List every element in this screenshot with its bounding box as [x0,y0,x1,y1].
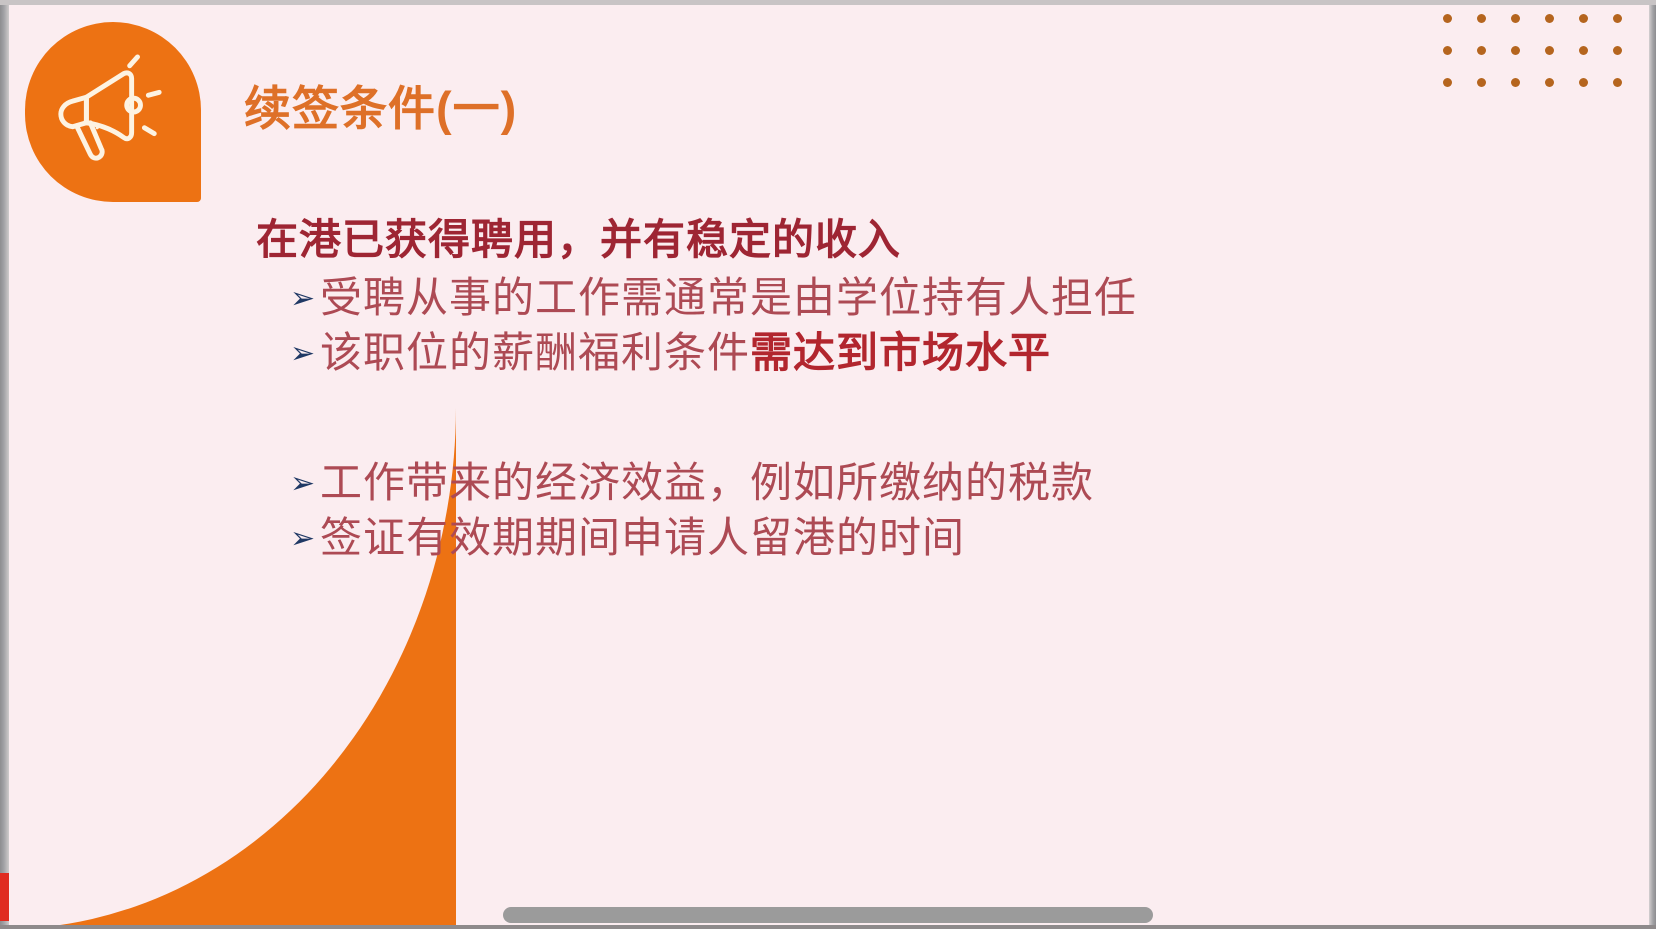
dot [1477,14,1486,23]
list-item: ➢ 工作带来的经济效益，例如所缴纳的税款 [290,456,1416,511]
horizontal-scrollbar-thumb[interactable] [503,907,1153,923]
dot-grid-decoration [1443,14,1647,110]
arrow-bullet-icon: ➢ [290,339,320,369]
dot [1545,14,1554,23]
slide-body: 在港已获得聘用，并有稳定的收入 ➢ 受聘从事的工作需通常是由学位持有人担任 ➢ … [256,214,1416,566]
megaphone-icon [51,52,169,170]
list-item: ➢ 签证有效期期间申请人留港的时间 [290,511,1416,566]
dot [1579,78,1588,87]
list-item-text: 该职位的薪酬福利条件需达到市场水平 [320,326,1051,381]
dot [1443,46,1452,55]
dot [1613,78,1622,87]
dot [1511,14,1520,23]
dot [1511,46,1520,55]
window-edge-top [0,0,1656,5]
list-item-text: 签证有效期期间申请人留港的时间 [320,511,965,566]
slide-title: 续签条件(一) [244,70,517,139]
dot [1613,14,1622,23]
dot [1477,46,1486,55]
slide-canvas: 续签条件(一) 在港已获得聘用，并有稳定的收入 ➢ 受聘从事的工作需通常是由学位… [0,0,1656,929]
dot [1545,78,1554,87]
dot [1477,78,1486,87]
window-edge-left [0,0,9,929]
dot [1545,46,1554,55]
lead-statement: 在港已获得聘用，并有稳定的收入 [256,214,1416,265]
bullet-group-1: ➢ 受聘从事的工作需通常是由学位持有人担任 ➢ 该职位的薪酬福利条件需达到市场水… [256,271,1416,380]
list-item-text: 受聘从事的工作需通常是由学位持有人担任 [320,271,1137,326]
dot [1613,46,1622,55]
dot [1579,14,1588,23]
dot [1443,78,1452,87]
megaphone-pin-badge [25,22,201,202]
window-edge-bottom [0,925,1656,929]
window-edge-right [1649,0,1656,929]
dot [1579,46,1588,55]
dot [1443,14,1452,23]
bullet-group-2: ➢ 工作带来的经济效益，例如所缴纳的税款 ➢ 签证有效期期间申请人留港的时间 [256,456,1416,565]
list-item: ➢ 受聘从事的工作需通常是由学位持有人担任 [290,271,1416,326]
arrow-bullet-icon: ➢ [290,284,320,314]
arrow-bullet-icon: ➢ [290,524,320,554]
list-item-text: 工作带来的经济效益，例如所缴纳的税款 [320,456,1094,511]
arrow-bullet-icon: ➢ [290,469,320,499]
dot [1511,78,1520,87]
recording-indicator [0,873,9,921]
list-item: ➢ 该职位的薪酬福利条件需达到市场水平 [290,326,1416,381]
